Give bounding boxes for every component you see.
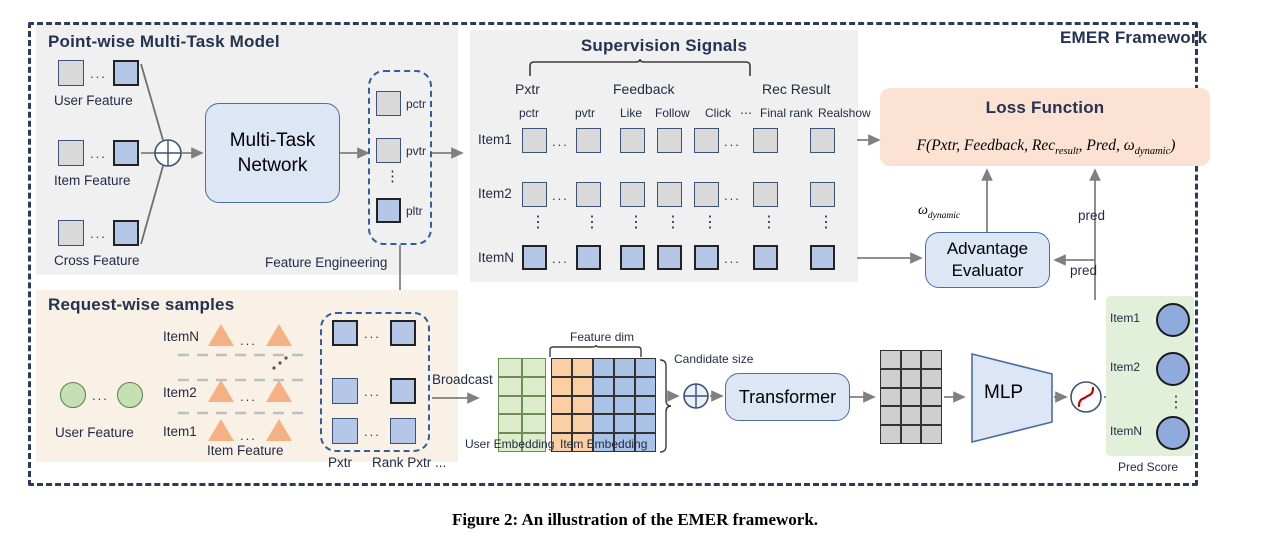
- supervision-cell: [694, 182, 719, 207]
- multi-task-network-label-line2: Network: [230, 153, 316, 178]
- supervision-row-label-item2: Item2: [478, 186, 512, 201]
- supervision-row-ellipsis-2: ...: [724, 251, 741, 266]
- loss-formula-tail: , Pred, ω: [1079, 137, 1135, 154]
- supervision-cell: [620, 128, 645, 153]
- multi-task-network-label-line1: Multi-Task: [230, 128, 316, 153]
- supervision-row-ellipsis-2: ...: [724, 134, 741, 149]
- supervision-col-final-rank: Final rank: [760, 106, 813, 120]
- pltr-square: [376, 198, 401, 223]
- requestwise-pxtr-ellipsis: ...: [364, 384, 381, 399]
- candidate-size-label: Candidate size: [674, 352, 753, 366]
- loss-formula-main: F(Pxtr, Feedback, Rec: [917, 137, 1056, 154]
- requestwise-rank-pxtr-square: [390, 418, 416, 444]
- loss-function-title: Loss Function: [880, 98, 1210, 118]
- supervision-row-ellipsis-1: ...: [552, 134, 569, 149]
- pred-label-upper: pred: [1078, 208, 1105, 223]
- supervision-vdots: ⋮: [584, 212, 600, 232]
- supervision-vdots: ⋮: [628, 212, 644, 232]
- predscore-title: Pred Score: [1118, 460, 1178, 474]
- supervision-row-label-item1: Item1: [478, 132, 512, 147]
- pvtr-label: pvtr: [406, 144, 426, 158]
- pltr-label: pltr: [406, 204, 423, 218]
- broadcast-arrow: [430, 388, 500, 408]
- supervision-cell: [657, 128, 682, 153]
- requestwise-pxtr-ellipsis: ...: [364, 424, 381, 439]
- multi-task-network-box: Multi-Task Network: [205, 103, 340, 203]
- mlp-label: MLP: [984, 382, 1023, 404]
- requestwise-pxtr-square: [332, 320, 358, 346]
- supervision-cell: [657, 245, 682, 270]
- supervision-cell: [620, 182, 645, 207]
- supervision-col-pvtr: pvtr: [575, 106, 595, 120]
- requestwise-pxtr-square: [332, 418, 358, 444]
- requestwise-pxtr-ellipsis: ...: [364, 326, 381, 341]
- loss-formula-sub-dynamic: dynamic: [1135, 146, 1171, 157]
- advantage-evaluator-connectors: [855, 160, 1255, 340]
- predscore-circle-item2: [1156, 352, 1190, 386]
- predscore-item-label-item2: Item2: [1110, 360, 1140, 374]
- supervision-cell: [753, 128, 778, 153]
- supervision-col-like: Like: [620, 106, 642, 120]
- supervision-cell: [753, 245, 778, 270]
- emer-framework-figure: EMER Framework Point-wise Multi-Task Mod…: [0, 0, 1270, 550]
- supervision-title: Supervision Signals: [470, 36, 858, 56]
- supervision-vdots: ⋮: [702, 212, 718, 232]
- pctr-square: [376, 91, 401, 116]
- supervision-col-pctr: pctr: [519, 106, 539, 120]
- supervision-cell: [810, 128, 835, 153]
- supervision-to-loss-arrow: [855, 120, 895, 160]
- predscore-circle-item1: [1156, 303, 1190, 337]
- feature-dim-label: Feature dim: [570, 330, 634, 344]
- supervision-row-ellipsis-2: ...: [724, 188, 741, 203]
- pxtr-vertical-ellipsis: ⋮: [385, 175, 400, 179]
- transformer-box: Transformer: [725, 373, 850, 421]
- supervision-vdots: ⋮: [665, 212, 681, 232]
- framework-title: EMER Framework: [1060, 28, 1207, 48]
- supervision-cell: [522, 128, 547, 153]
- supervision-cell: [522, 182, 547, 207]
- predscore-circle-itemn: [1156, 416, 1190, 450]
- requestwise-user-feature-label: User Feature: [55, 425, 134, 440]
- supervision-group-pxtr: Pxtr: [515, 81, 540, 97]
- supervision-cell: [620, 245, 645, 270]
- requestwise-rank-pxtr-label: Rank Pxtr ...: [372, 455, 446, 470]
- user-feature-circle-1: [60, 382, 86, 408]
- supervision-cell: [694, 245, 719, 270]
- pvtr-square: [376, 138, 401, 163]
- requestwise-rank-pxtr-square: [390, 378, 416, 404]
- supervision-group-feedback: Feedback: [613, 81, 674, 97]
- supervision-row-label-itemn: ItemN: [478, 250, 514, 265]
- transformer-output-grid: [880, 350, 942, 444]
- supervision-col-realshow: Realshow: [818, 106, 871, 120]
- user-feature-circles-ellipsis: ...: [92, 388, 109, 403]
- supervision-cell: [657, 182, 682, 207]
- broadcast-label: Broadcast: [432, 372, 493, 387]
- supervision-vdots: ⋮: [761, 212, 777, 232]
- pctr-label: pctr: [406, 97, 426, 111]
- requestwise-rank-pxtr-square: [390, 320, 416, 346]
- supervision-vdots: ⋮: [818, 212, 834, 232]
- loss-formula-end: ): [1170, 137, 1175, 154]
- supervision-cell: [694, 128, 719, 153]
- user-embedding-label: User Embedding: [465, 437, 554, 451]
- predscore-item-label-itemn: ItemN: [1110, 424, 1142, 438]
- supervision-col-ellipsis: ⋯: [740, 106, 752, 120]
- supervision-vdots: ⋮: [530, 212, 546, 232]
- requestwise-pxtr-square: [332, 378, 358, 404]
- feature-engineering-label: Feature Engineering: [265, 255, 387, 270]
- supervision-cell: [576, 245, 601, 270]
- supervision-brace: [470, 58, 860, 80]
- transformer-label: Transformer: [739, 387, 836, 408]
- requestwise-pxtr-label: Pxtr: [328, 455, 352, 470]
- loss-function-formula: F(Pxtr, Feedback, Recresult, Pred, ωdyna…: [874, 137, 1218, 157]
- predscore-item-label-item1: Item1: [1110, 311, 1140, 325]
- predscore-vertical-ellipsis: ⋮: [1168, 392, 1184, 412]
- item-embedding-label: Item Embedding: [560, 437, 647, 451]
- supervision-group-rec-result: Rec Result: [762, 81, 830, 97]
- supervision-cell: [810, 245, 835, 270]
- supervision-row-ellipsis-1: ...: [552, 251, 569, 266]
- user-feature-circle-2: [117, 382, 143, 408]
- supervision-cell: [810, 182, 835, 207]
- supervision-col-follow: Follow: [655, 106, 690, 120]
- supervision-cell: [522, 245, 547, 270]
- supervision-cell: [576, 182, 601, 207]
- supervision-cell: [576, 128, 601, 153]
- feature-dim-brace: [548, 345, 658, 359]
- supervision-cell: [753, 182, 778, 207]
- supervision-col-click: Click: [705, 106, 731, 120]
- pred-label-lower: pred: [1070, 263, 1097, 278]
- supervision-row-ellipsis-1: ...: [552, 188, 569, 203]
- figure-caption: Figure 2: An illustration of the EMER fr…: [0, 510, 1270, 530]
- loss-formula-sub-result: result: [1055, 146, 1079, 157]
